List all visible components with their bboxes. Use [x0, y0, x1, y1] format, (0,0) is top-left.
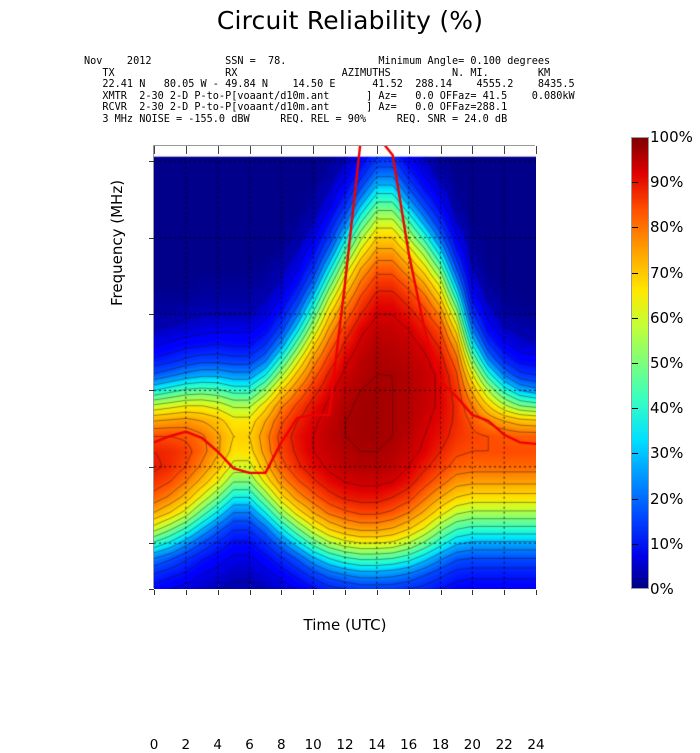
colorbar-tick-mark — [632, 544, 638, 545]
header-line-4: RCVR 2-30 2-D P-to-P[voaant/d10m.ant ] A… — [84, 102, 604, 114]
colorbar-tick-100: 100% — [650, 128, 693, 146]
colorbar-tick-90: 90% — [650, 173, 683, 191]
x-axis-label: Time (UTC) — [154, 616, 536, 634]
x-tick-6: 6 — [235, 737, 265, 753]
colorbar-tick-30: 30% — [650, 444, 683, 462]
y-axis-label: Frequency (MHz) — [108, 180, 126, 306]
x-top-tick-mark — [441, 146, 442, 154]
header-line-3: XMTR 2-30 2-D P-to-P[voaant/d10m.ant ] A… — [84, 91, 604, 103]
x-tick-mark — [154, 590, 155, 595]
x-tick-0: 0 — [139, 737, 169, 753]
colorbar-tick-mark — [632, 363, 638, 364]
colorbar-tick-mark — [632, 408, 638, 409]
colorbar-tick-mark — [632, 499, 638, 500]
y-tick-mark — [149, 543, 154, 544]
y-tick-mark — [149, 161, 154, 162]
x-top-tick-mark — [377, 146, 378, 154]
colorbar-tick-mark — [632, 182, 638, 183]
x-tick-mark — [377, 590, 378, 595]
colorbar-tick-10: 10% — [650, 535, 683, 553]
x-top-tick-mark — [154, 146, 155, 154]
colorbar-tick-70: 70% — [650, 264, 683, 282]
voacap-chart-page: Circuit Reliability (%) Nov 2012 SSN = 7… — [0, 0, 700, 650]
x-tick-mark — [218, 590, 219, 595]
x-tick-mark — [345, 590, 346, 595]
colorbar-tick-0: 0% — [650, 580, 674, 598]
x-top-tick-mark — [536, 146, 537, 154]
x-tick-24: 24 — [521, 737, 551, 753]
x-tick-mark — [186, 590, 187, 595]
x-tick-20: 20 — [457, 737, 487, 753]
plot-area: Frequency (MHz) Time (UTC) 2510152025300… — [153, 145, 535, 588]
x-tick-mark — [281, 590, 282, 595]
x-tick-22: 22 — [489, 737, 519, 753]
x-top-tick-mark — [504, 146, 505, 154]
header-line-5: 3 MHz NOISE = -155.0 dBW REQ. REL = 90% … — [84, 114, 604, 126]
reliability-contour-field — [154, 146, 536, 589]
x-tick-2: 2 — [171, 737, 201, 753]
x-tick-mark — [441, 590, 442, 595]
colorbar-tick-mark — [632, 227, 638, 228]
x-top-tick-mark — [218, 146, 219, 154]
colorbar-tick-40: 40% — [650, 399, 683, 417]
x-tick-mark — [313, 590, 314, 595]
y-tick-mark — [149, 238, 154, 239]
x-top-tick-mark — [313, 146, 314, 154]
colorbar-tick-mark — [632, 453, 638, 454]
voacap-header-block: Nov 2012 SSN = 78. Minimum Angle= 0.100 … — [84, 56, 604, 126]
colorbar-tick-20: 20% — [650, 490, 683, 508]
x-top-tick-mark — [472, 146, 473, 154]
x-tick-10: 10 — [298, 737, 328, 753]
x-top-tick-mark — [345, 146, 346, 154]
x-tick-18: 18 — [426, 737, 456, 753]
x-top-tick-mark — [186, 146, 187, 154]
colorbar-tick-mark — [632, 318, 638, 319]
x-tick-12: 12 — [330, 737, 360, 753]
y-tick-mark — [149, 467, 154, 468]
x-tick-14: 14 — [362, 737, 392, 753]
x-tick-mark — [504, 590, 505, 595]
colorbar-tick-50: 50% — [650, 354, 683, 372]
colorbar-tick-80: 80% — [650, 218, 683, 236]
header-line-1: TX RX AZIMUTHS N. MI. KM — [84, 68, 604, 80]
header-line-2: 22.41 N 80.05 W - 49.84 N 14.50 E 41.52 … — [84, 79, 604, 91]
colorbar-tick-60: 60% — [650, 309, 683, 327]
y-tick-mark — [149, 390, 154, 391]
x-tick-8: 8 — [266, 737, 296, 753]
x-tick-4: 4 — [203, 737, 233, 753]
header-line-0: Nov 2012 SSN = 78. Minimum Angle= 0.100 … — [84, 56, 604, 68]
x-top-tick-mark — [250, 146, 251, 154]
x-tick-mark — [409, 590, 410, 595]
x-tick-16: 16 — [394, 737, 424, 753]
colorbar-tick-mark — [632, 273, 638, 274]
x-top-tick-mark — [281, 146, 282, 154]
x-top-tick-mark — [409, 146, 410, 154]
x-tick-mark — [472, 590, 473, 595]
x-tick-mark — [250, 590, 251, 595]
x-tick-mark — [536, 590, 537, 595]
y-tick-mark — [149, 314, 154, 315]
page-title: Circuit Reliability (%) — [0, 6, 700, 35]
